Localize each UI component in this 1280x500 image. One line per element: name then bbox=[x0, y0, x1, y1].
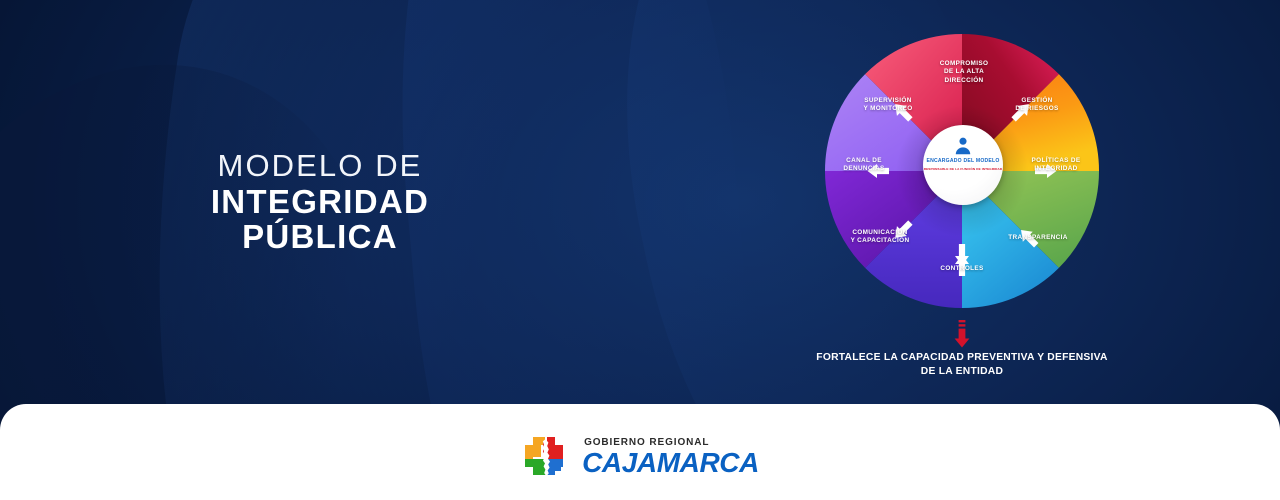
person-icon bbox=[953, 136, 973, 155]
footer-panel: GOBIERNO REGIONAL CAJAMARCA bbox=[0, 404, 1280, 500]
title-line-2: INTEGRIDAD bbox=[0, 185, 640, 219]
cajamarca-logo: GOBIERNO REGIONAL CAJAMARCA bbox=[521, 433, 759, 481]
hub-title: ENCARGADO DEL MODELO bbox=[926, 158, 999, 165]
caption-line-1: FORTALECE LA CAPACIDAD PREVENTIVA Y DEFE… bbox=[762, 351, 1162, 365]
page-title: MODELO DE INTEGRIDAD PÚBLICA bbox=[0, 150, 640, 254]
title-line-1: MODELO DE bbox=[0, 150, 640, 182]
integrity-model-wheel: COMPROMISODE LA ALTADIRECCIÓN GESTIÓNDE … bbox=[822, 31, 1102, 311]
banner-canvas: MODELO DE INTEGRIDAD PÚBLICA bbox=[0, 0, 1280, 500]
logo-top-text: GOBIERNO REGIONAL bbox=[584, 438, 759, 448]
wheel-center-hub: ENCARGADO DEL MODELO RESPONSABLE DE LA F… bbox=[923, 125, 1003, 205]
logo-text: GOBIERNO REGIONAL CAJAMARCA bbox=[582, 438, 759, 477]
cajamarca-logo-mark-icon bbox=[521, 433, 573, 481]
red-down-arrow-icon bbox=[954, 320, 970, 348]
logo-main-text: CAJAMARCA bbox=[582, 449, 759, 477]
title-line-3: PÚBLICA bbox=[0, 220, 640, 254]
hub-subtitle: RESPONSABLE DE LA FUNCIÓN DE INTEGRIDAD bbox=[924, 167, 1002, 171]
caption-line-2: DE LA ENTIDAD bbox=[762, 365, 1162, 379]
bottom-caption: FORTALECE LA CAPACIDAD PREVENTIVA Y DEFE… bbox=[762, 351, 1162, 379]
